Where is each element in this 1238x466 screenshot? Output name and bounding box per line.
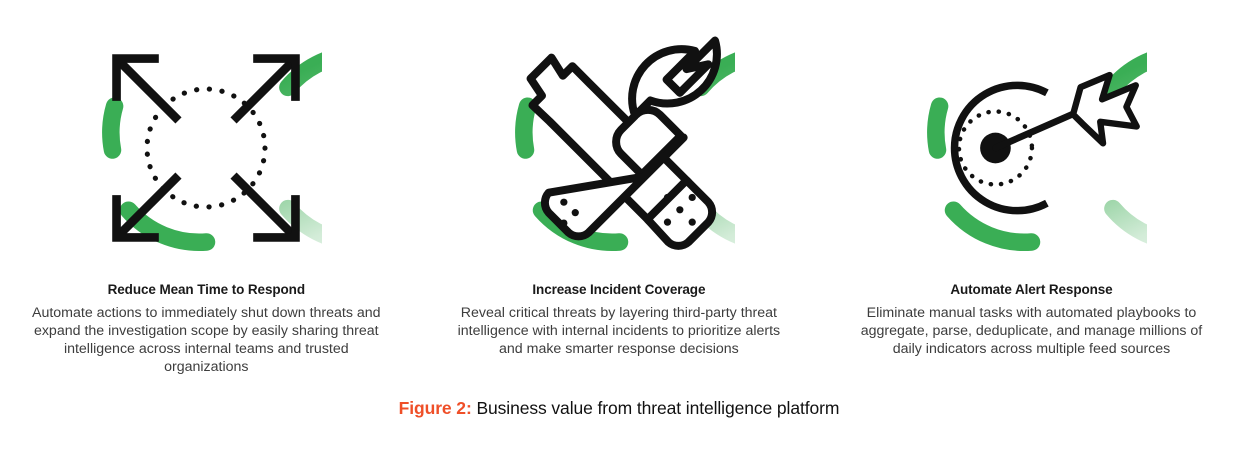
value-card-body: Eliminate manual tasks with automated pl…	[856, 304, 1206, 358]
screwdriver-wrench-icon	[503, 32, 735, 264]
progress-ring-3	[915, 32, 1147, 264]
progress-ring-1	[90, 32, 322, 264]
value-card-title: Automate Alert Response	[950, 282, 1112, 298]
expand-arrows-icon	[90, 32, 322, 264]
value-card-reduce-mean-time-to-respond: Reduce Mean Time to Respond Automate act…	[0, 0, 413, 392]
figure-caption-text: Business value from threat intelligence …	[476, 398, 839, 418]
figure-caption: Figure 2: Business value from threat int…	[0, 398, 1238, 419]
value-card-increase-incident-coverage: Increase Incident Coverage Reveal critic…	[413, 0, 826, 392]
value-card-automate-alert-response: Automate Alert Response Eliminate manual…	[825, 0, 1238, 392]
progress-ring-2	[503, 32, 735, 264]
figure-container: Reduce Mean Time to Respond Automate act…	[0, 0, 1238, 466]
target-arrow-icon	[915, 32, 1147, 264]
value-card-body: Reveal critical threats by layering thir…	[444, 304, 794, 358]
figure-caption-label: Figure 2:	[399, 398, 472, 418]
value-card-title: Reduce Mean Time to Respond	[108, 282, 305, 298]
value-cards-row: Reduce Mean Time to Respond Automate act…	[0, 0, 1238, 392]
value-card-body: Automate actions to immediately shut dow…	[31, 304, 381, 376]
value-card-title: Increase Incident Coverage	[532, 282, 705, 298]
